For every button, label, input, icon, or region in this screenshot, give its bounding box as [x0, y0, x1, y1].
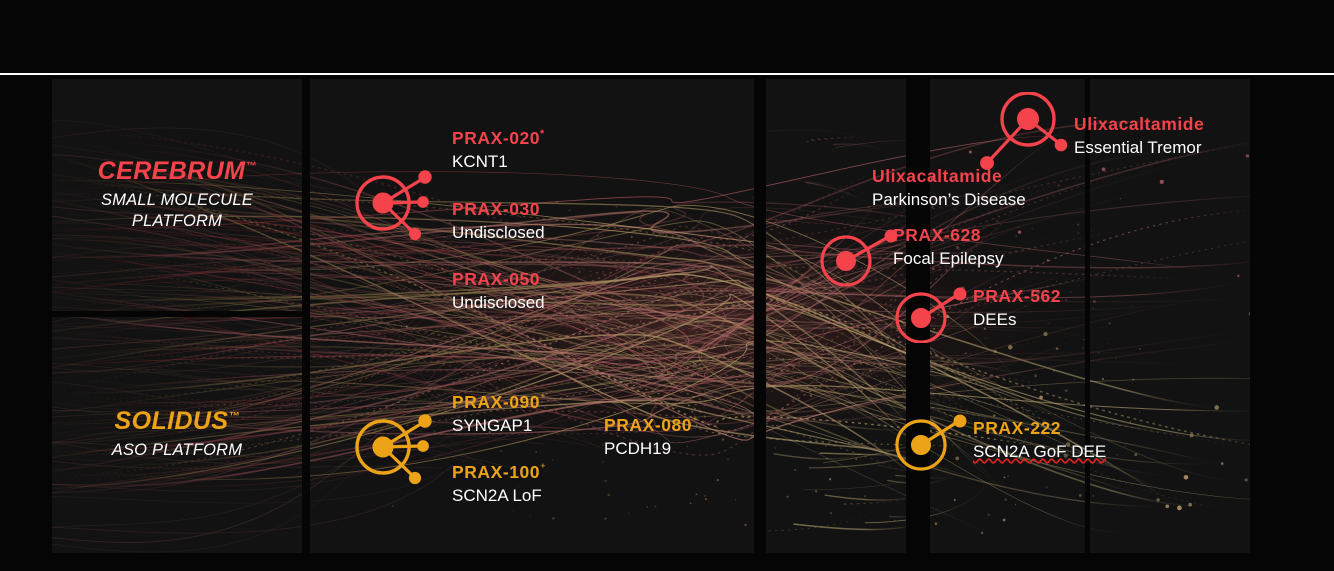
program-indication: SCN2A LoF — [452, 485, 546, 506]
program-ulixacaltamide-et[interactable]: Ulixacaltamide Essential Tremor — [1074, 114, 1204, 158]
program-superscript: ⁺ — [540, 392, 546, 404]
column-gap-1 — [302, 75, 310, 571]
platform-solidus-subtitle: ASO PLATFORM — [52, 440, 302, 461]
program-node-icon-prax-222 — [893, 410, 975, 472]
panel-phase-one — [766, 79, 906, 553]
program-name: PRAX-090⁺ — [452, 392, 546, 413]
program-name: PRAX-080⁺ — [604, 415, 698, 436]
pipeline-diagram: ORIGIN PRECLINICAL PHASE ONE PHASE TWO R… — [0, 0, 1334, 571]
program-indication: DEEs — [973, 309, 1061, 330]
platform-cerebrum-name: CEREBRUM™ — [52, 158, 302, 184]
program-indication: PCDH19 — [604, 438, 698, 459]
program-name: PRAX-628 — [893, 225, 1004, 246]
platform-cerebrum-subtitle: SMALL MOLECULE PLATFORM — [52, 190, 302, 232]
bottom-margin — [0, 553, 1334, 571]
program-indication: Focal Epilepsy — [893, 248, 1004, 269]
program-indication: Undisclosed — [452, 292, 545, 313]
program-indication: Parkinson’s Disease — [872, 189, 1026, 210]
program-prax-050[interactable]: PRAX-050 Undisclosed — [452, 269, 545, 313]
column-gap-2 — [754, 75, 766, 571]
program-node-icon-prax-628 — [818, 228, 900, 290]
program-name: Ulixacaltamide — [1074, 114, 1204, 135]
program-prax-030[interactable]: PRAX-030 Undisclosed — [452, 199, 545, 243]
program-prax-080[interactable]: PRAX-080⁺ PCDH19 — [604, 415, 698, 459]
column-gap-right — [1250, 75, 1334, 571]
program-name: PRAX-100⁺ — [452, 462, 546, 483]
platform-solidus-name: SOLIDUS™ — [52, 408, 302, 434]
program-node-icon-ulixacaltamide-et — [975, 92, 1071, 174]
column-gap-left — [0, 75, 52, 571]
program-indication: Essential Tremor — [1074, 137, 1204, 158]
program-node-icon-cerebrum-preclinical — [352, 166, 436, 242]
program-node-icon-prax-562 — [893, 283, 975, 343]
program-prax-222[interactable]: PRAX-222 SCN2A GoF DEE — [973, 418, 1106, 462]
program-prax-020[interactable]: PRAX-020* KCNT1 — [452, 128, 544, 172]
program-name: PRAX-562 — [973, 286, 1061, 307]
program-prax-100[interactable]: PRAX-100⁺ SCN2A LoF — [452, 462, 546, 506]
program-prax-562[interactable]: PRAX-562 DEEs — [973, 286, 1061, 330]
phase-header-bar — [0, 0, 1334, 75]
program-superscript: ⁺ — [692, 415, 698, 427]
program-indication: Undisclosed — [452, 222, 545, 243]
program-name: PRAX-222 — [973, 418, 1106, 439]
program-prax-628[interactable]: PRAX-628 Focal Epilepsy — [893, 225, 1004, 269]
program-superscript: ⁺ — [540, 462, 546, 474]
program-node-icon-solidus-preclinical — [352, 410, 436, 486]
header-divider-rule — [0, 73, 1334, 75]
program-indication: KCNT1 — [452, 151, 544, 172]
trademark-symbol: ™ — [245, 161, 256, 173]
program-name: PRAX-020* — [452, 128, 544, 149]
program-name: PRAX-050 — [452, 269, 545, 290]
program-name: PRAX-030 — [452, 199, 545, 220]
program-indication: SCN2A GoF DEE — [973, 441, 1106, 462]
program-prax-090[interactable]: PRAX-090⁺ SYNGAP1 — [452, 392, 546, 436]
platform-solidus: SOLIDUS™ ASO PLATFORM — [52, 408, 302, 461]
trademark-symbol: ™ — [228, 411, 239, 423]
program-superscript: * — [540, 128, 544, 140]
origin-panel-divider — [52, 311, 302, 317]
platform-cerebrum: CEREBRUM™ SMALL MOLECULE PLATFORM — [52, 158, 302, 232]
program-indication: SYNGAP1 — [452, 415, 546, 436]
